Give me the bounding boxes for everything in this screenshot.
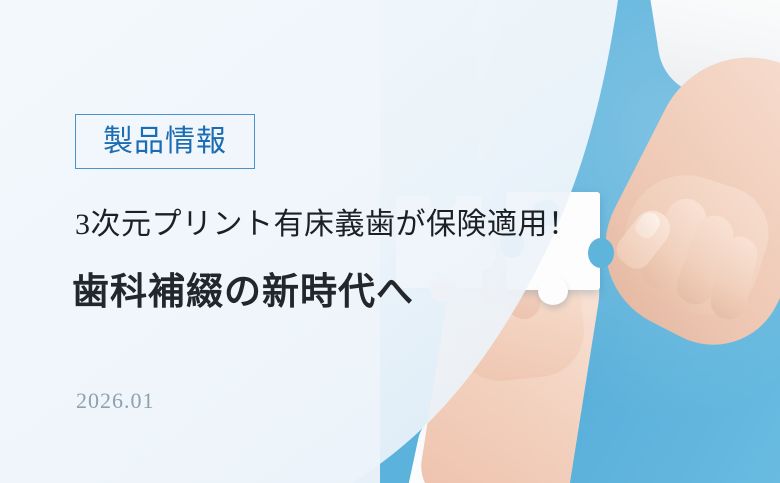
headline-line-2: 歯科補綴の新時代へ — [72, 268, 414, 318]
headline-line-1: 3次元プリント有床義歯が保険適用！ — [75, 205, 579, 246]
news-banner: 製品情報 3次元プリント有床義歯が保険適用！ 歯科補綴の新時代へ 2026.01 — [0, 0, 780, 483]
puzzle-socket-right-right-edge — [588, 238, 614, 268]
category-badge: 製品情報 — [75, 114, 255, 169]
category-badge-label: 製品情報 — [103, 127, 227, 157]
text-column: 製品情報 3次元プリント有床義歯が保険適用！ 歯科補綴の新時代へ 2026.01 — [0, 0, 470, 483]
publish-date: 2026.01 — [76, 390, 155, 412]
